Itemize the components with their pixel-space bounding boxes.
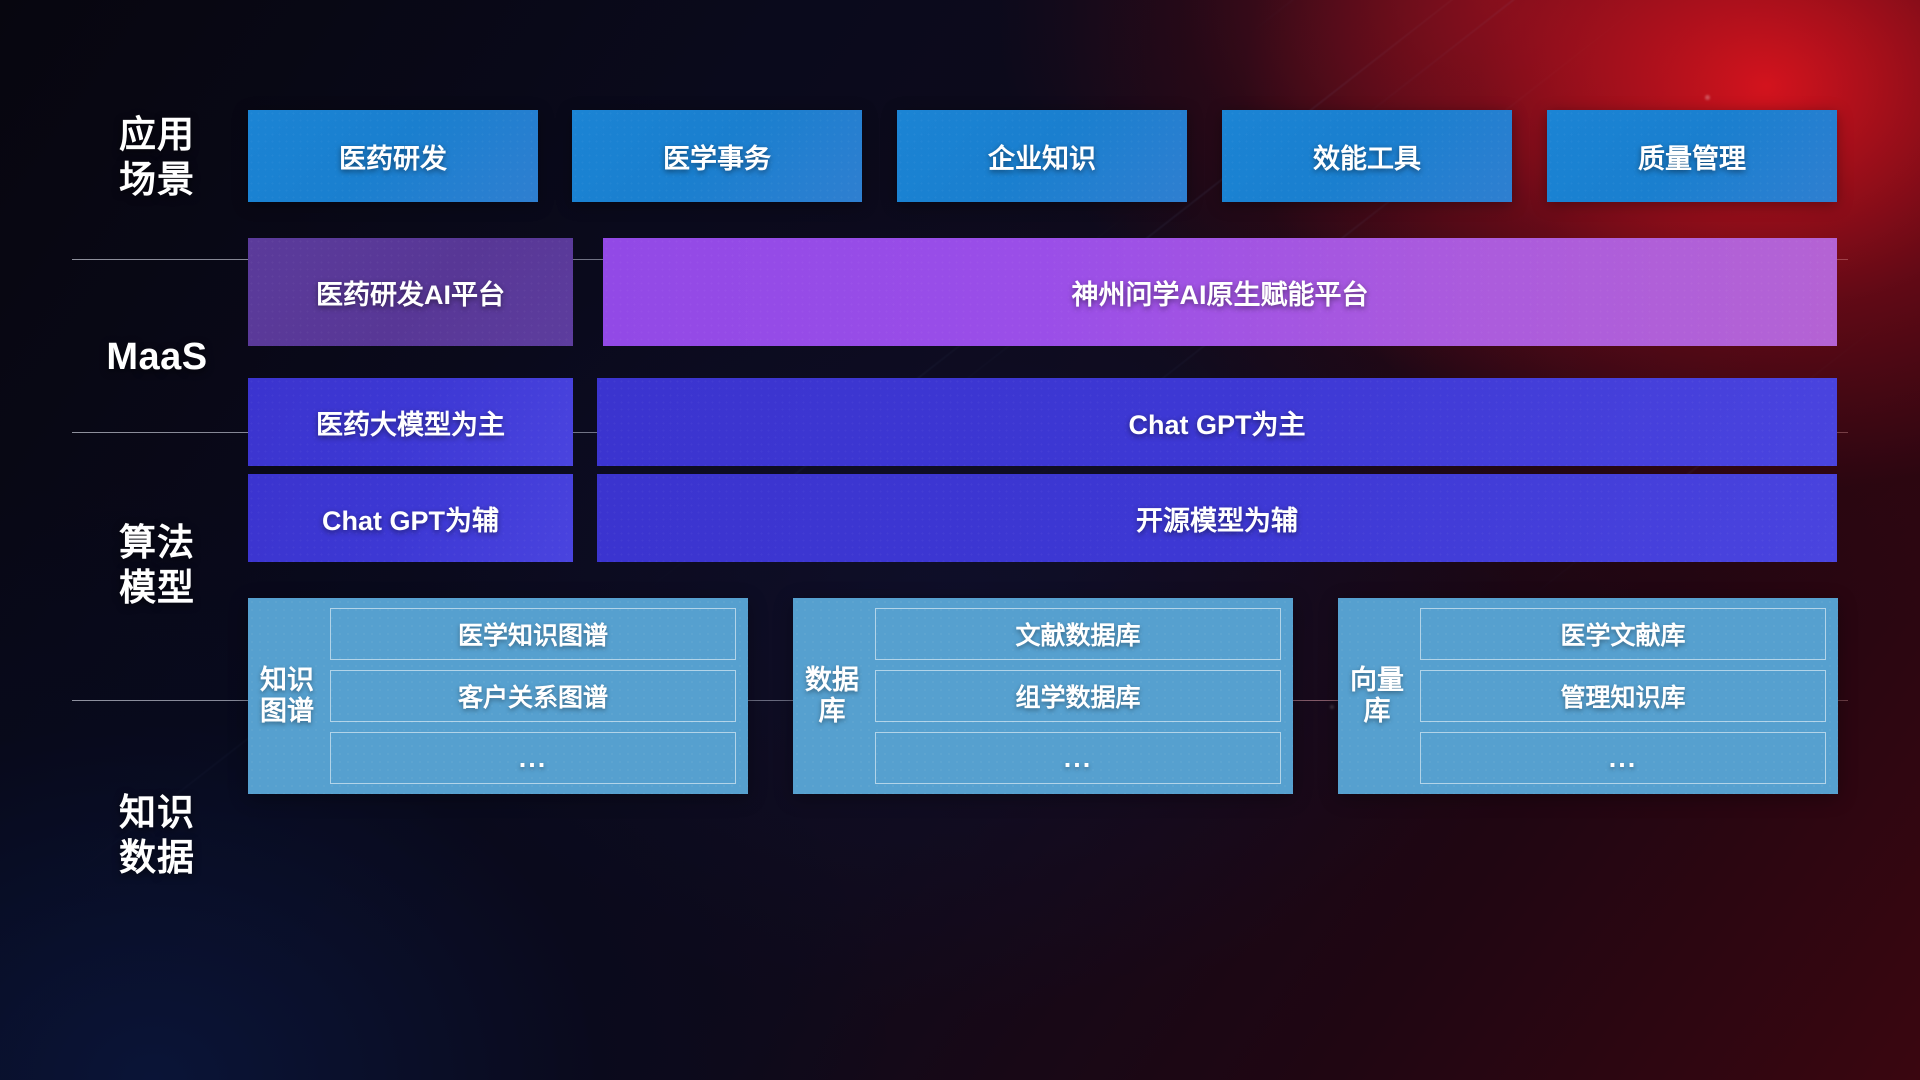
maas-platform-left[interactable]: 医药研发AI平台 [248, 238, 573, 346]
algorithm-box-left-2[interactable]: Chat GPT为辅 [248, 474, 573, 562]
algorithm-box-left-1[interactable]: 医药大模型为主 [248, 378, 573, 466]
knowledge-card-item[interactable]: 医学知识图谱 [330, 608, 736, 660]
row-label-line2: 场景 [72, 157, 242, 202]
algorithm-label: Chat GPT为主 [1128, 403, 1305, 442]
knowledge-card-item-list: 医学文献库 管理知识库 ... [1420, 608, 1826, 784]
algorithm-label: 开源模型为辅 [1136, 499, 1298, 538]
knowledge-card-label: 向量库 [1348, 608, 1406, 784]
knowledge-card-item-more[interactable]: ... [875, 732, 1281, 784]
maas-platform-right[interactable]: 神州问学AI原生赋能平台 [603, 238, 1837, 346]
app-scenario-box-1[interactable]: 医药研发 [248, 110, 538, 202]
app-scenario-label: 企业知识 [988, 137, 1096, 176]
knowledge-card-item-list: 医学知识图谱 客户关系图谱 ... [330, 608, 736, 784]
app-scenario-label: 质量管理 [1638, 137, 1746, 176]
knowledge-card-item[interactable]: 文献数据库 [875, 608, 1281, 660]
app-scenario-box-2[interactable]: 医学事务 [572, 110, 862, 202]
knowledge-card-label: 知识图谱 [258, 608, 316, 784]
row-label-knowledge-data: 知识 数据 [72, 790, 242, 880]
knowledge-card-item[interactable]: 客户关系图谱 [330, 670, 736, 722]
row-label-text: MaaS [72, 334, 242, 380]
app-scenario-box-5[interactable]: 质量管理 [1547, 110, 1837, 202]
app-scenario-box-3[interactable]: 企业知识 [897, 110, 1187, 202]
row-label-maas: MaaS [72, 334, 242, 380]
algorithm-box-right-1[interactable]: Chat GPT为主 [597, 378, 1837, 466]
row-label-line1: 应用 [72, 112, 242, 157]
row-label-line1: 算法 [72, 520, 242, 565]
knowledge-card-item-more[interactable]: ... [1420, 732, 1826, 784]
knowledge-card-database[interactable]: 数据库 文献数据库 组学数据库 ... [793, 598, 1293, 794]
algorithm-box-right-2[interactable]: 开源模型为辅 [597, 474, 1837, 562]
knowledge-card-item[interactable]: 组学数据库 [875, 670, 1281, 722]
row-label-line2: 模型 [72, 565, 242, 610]
knowledge-card-vector-store[interactable]: 向量库 医学文献库 管理知识库 ... [1338, 598, 1838, 794]
knowledge-card-item-list: 文献数据库 组学数据库 ... [875, 608, 1281, 784]
app-scenario-label: 效能工具 [1313, 137, 1421, 176]
slide-canvas: 应用 场景 医药研发 医学事务 企业知识 效能工具 质量管理 MaaS 医药研发… [0, 0, 1920, 1080]
app-scenario-label: 医学事务 [663, 137, 771, 176]
knowledge-card-item-more[interactable]: ... [330, 732, 736, 784]
maas-left-label: 医药研发AI平台 [316, 273, 505, 312]
knowledge-card-item[interactable]: 医学文献库 [1420, 608, 1826, 660]
row-label-application-scenario: 应用 场景 [72, 112, 242, 202]
knowledge-card-label: 数据库 [803, 608, 861, 784]
algorithm-label: 医药大模型为主 [316, 403, 505, 442]
row-label-algorithm-model: 算法 模型 [72, 520, 242, 610]
app-scenario-label: 医药研发 [339, 137, 447, 176]
app-scenario-box-4[interactable]: 效能工具 [1222, 110, 1512, 202]
row-label-line2: 数据 [72, 835, 242, 880]
row-label-line1: 知识 [72, 790, 242, 835]
knowledge-card-item[interactable]: 管理知识库 [1420, 670, 1826, 722]
knowledge-card-knowledge-graph[interactable]: 知识图谱 医学知识图谱 客户关系图谱 ... [248, 598, 748, 794]
algorithm-label: Chat GPT为辅 [322, 499, 499, 538]
maas-right-label: 神州问学AI原生赋能平台 [1072, 273, 1369, 312]
